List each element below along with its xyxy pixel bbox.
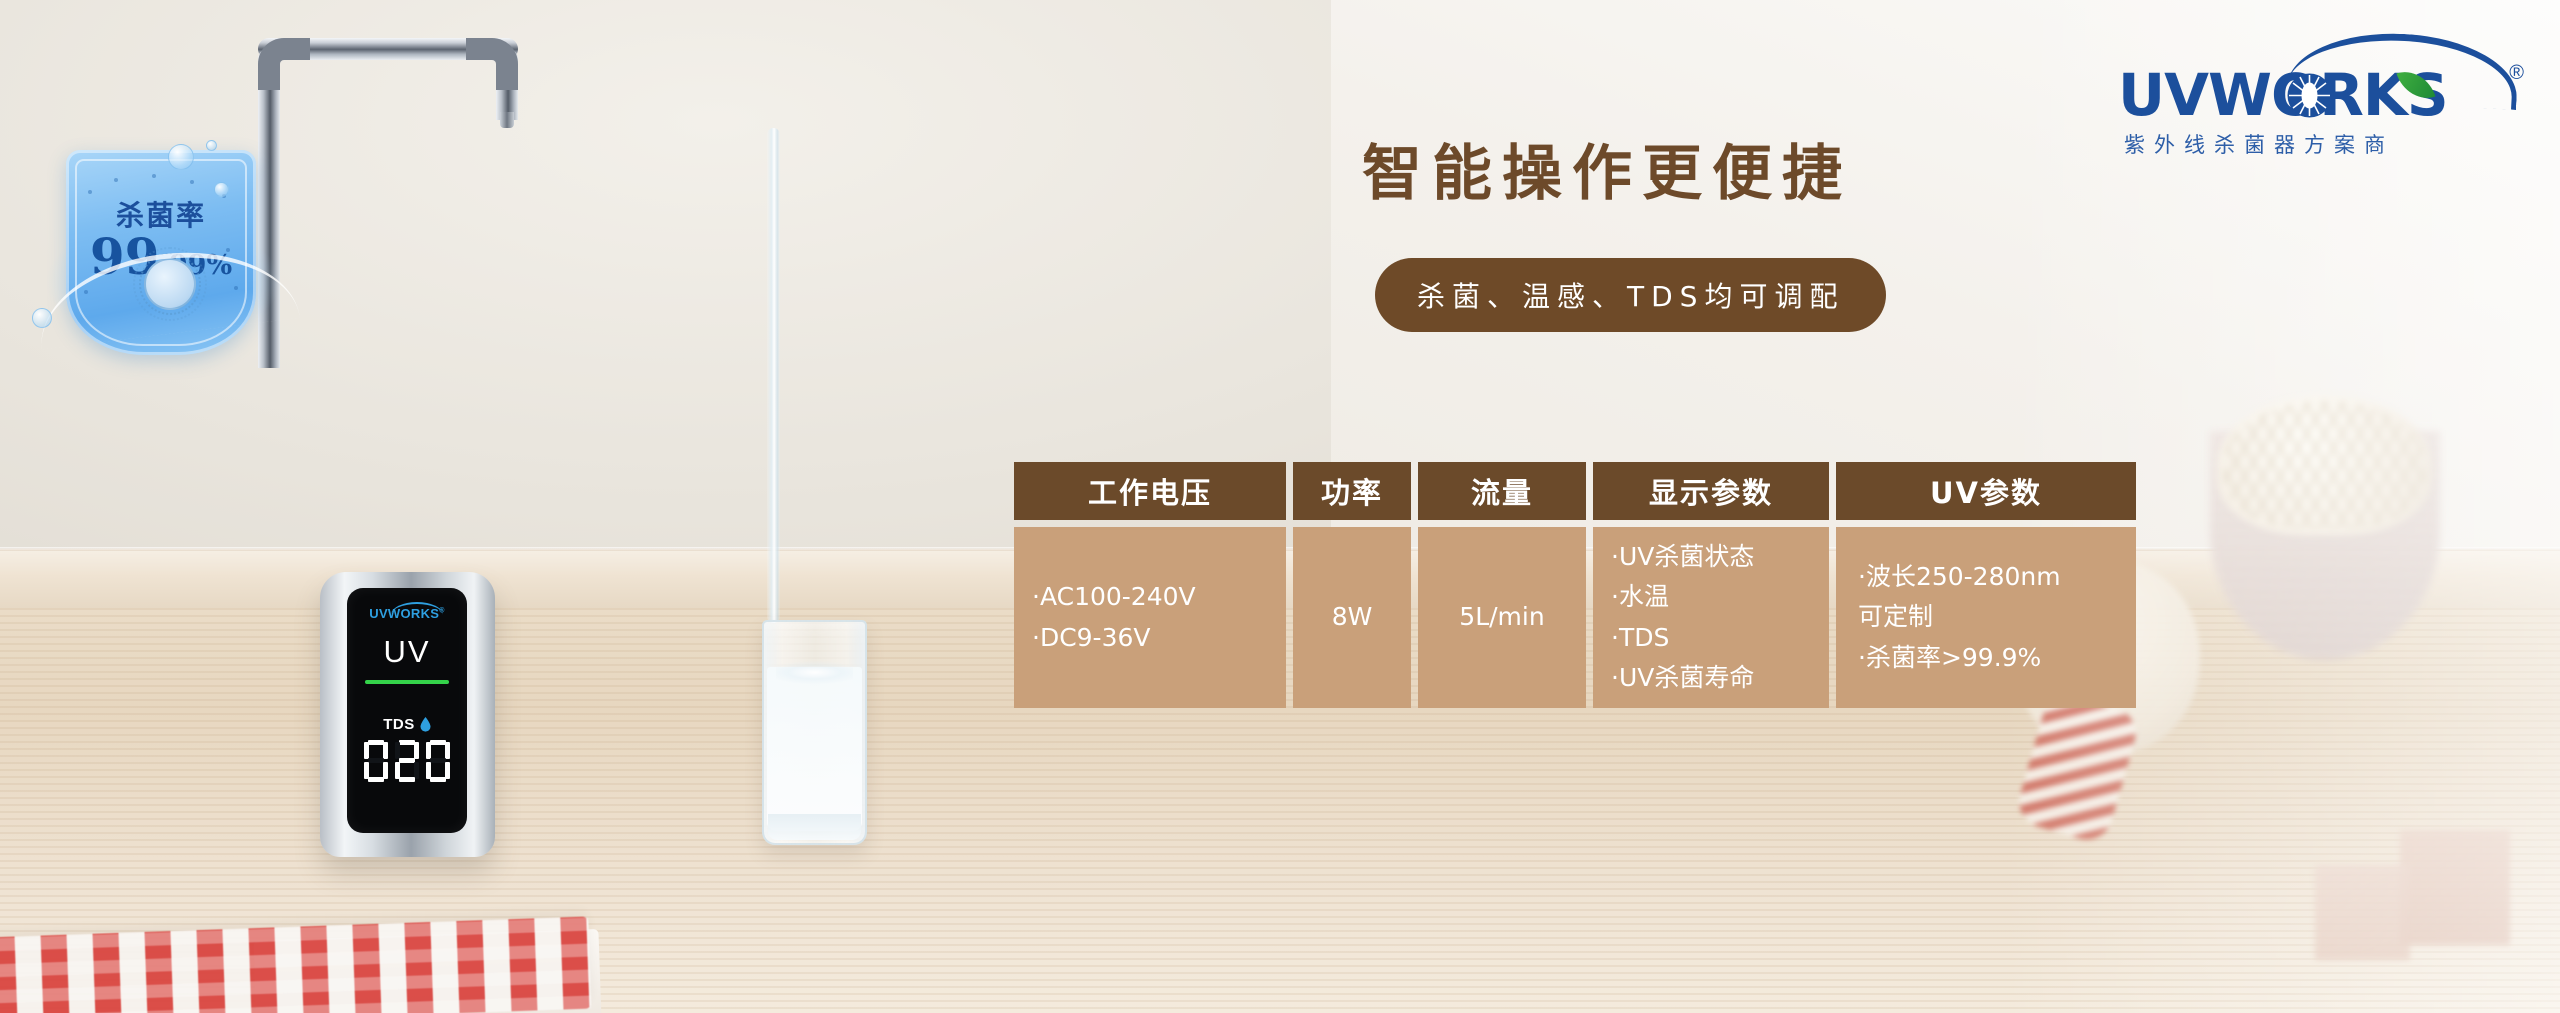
spec-header-flow: 流量 <box>1418 462 1586 520</box>
spec-header-uv: UV参数 <box>1836 462 2136 520</box>
glass-base <box>768 814 861 840</box>
yarn-ball-prop <box>2217 395 2432 535</box>
water-drop-icon <box>420 717 431 732</box>
spec-line: ·DC9-36V <box>1032 618 1286 659</box>
spec-body-uv: ·波长250-280nm 可定制 ·杀菌率>99.9% <box>1836 527 2136 708</box>
logo-tagline: 紫外线杀菌器方案商 <box>2124 129 2394 159</box>
spec-header-power: 功率 <box>1293 462 1411 520</box>
faucet-corner-left <box>258 38 310 90</box>
device-mode-label: UV <box>347 634 467 670</box>
device-tds-row: TDS <box>347 716 467 733</box>
water-glass <box>762 620 867 845</box>
water-splash <box>776 652 853 686</box>
seg-digit-2 <box>395 740 419 782</box>
spec-column-display: 显示参数 ·UV杀菌状态 ·水温 ·TDS ·UV杀菌寿命 <box>1593 462 1829 708</box>
spec-line: ·杀菌率>99.9% <box>1858 638 2136 679</box>
spec-body-flow: 5L/min <box>1418 527 1586 708</box>
spec-line: ·水温 <box>1611 577 1829 618</box>
bubble-icon-3 <box>32 308 52 328</box>
spec-column-uv: UV参数 ·波长250-280nm 可定制 ·杀菌率>99.9% <box>1836 462 2136 708</box>
wood-block-prop-a <box>2400 830 2510 945</box>
spec-line: ·波长250-280nm <box>1858 557 2136 598</box>
bubble-icon-1 <box>168 144 194 170</box>
spec-line: 可定制 <box>1858 597 2136 638</box>
sterilization-rate-badge: 杀菌率 99.99% <box>28 136 298 366</box>
spec-line: ·UV杀菌状态 <box>1611 537 1829 578</box>
specification-table: 工作电压 ·AC100-240V ·DC9-36V 功率 8W 流量 5L/mi… <box>1014 462 2136 708</box>
glass-water-fill <box>767 667 862 831</box>
logo-registered-mark: ® <box>2509 62 2524 85</box>
brand-logo: UVWORKS ® 紫外线杀菌器方案商 <box>2118 28 2518 158</box>
device-logo-registered-mark: ® <box>439 608 444 615</box>
uv-sunburst-icon <box>2286 72 2333 119</box>
bubble-icon-4 <box>206 140 217 151</box>
faucet-corner-right <box>466 38 518 90</box>
uv-sterilizer-device: UVWORKS® UV TDS <box>320 572 495 857</box>
spec-body-voltage: ·AC100-240V ·DC9-36V <box>1014 527 1286 708</box>
spec-body-display: ·UV杀菌状态 ·水温 ·TDS ·UV杀菌寿命 <box>1593 527 1829 708</box>
wood-block-prop-b <box>2315 865 2410 960</box>
spec-line: ·UV杀菌寿命 <box>1611 658 1829 699</box>
spec-body-power: 8W <box>1293 527 1411 708</box>
seg-digit-1 <box>364 740 388 782</box>
page-title: 智能操作更便捷 <box>1362 125 1852 212</box>
spec-line: 5L/min <box>1459 597 1544 638</box>
device-tds-label: TDS <box>383 716 415 733</box>
feature-pill: 杀菌、温感、TDS均可调配 <box>1375 258 1886 332</box>
device-logo: UVWORKS® <box>347 606 467 621</box>
spec-header-display: 显示参数 <box>1593 462 1829 520</box>
spec-line: ·TDS <box>1611 618 1829 659</box>
spec-line: 8W <box>1332 597 1373 638</box>
bubble-icon-2 <box>214 182 229 197</box>
water-stream <box>767 128 780 623</box>
device-tds-value <box>347 740 467 782</box>
device-status-bar <box>365 680 449 684</box>
spec-column-flow: 流量 5L/min <box>1418 462 1586 708</box>
spec-header-voltage: 工作电压 <box>1014 462 1286 520</box>
spec-line: ·AC100-240V <box>1032 577 1286 618</box>
faucet-spout <box>500 112 514 128</box>
device-display-screen: UVWORKS® UV TDS <box>347 588 467 833</box>
device-logo-text: UVWORKS <box>369 606 439 621</box>
spec-column-voltage: 工作电压 ·AC100-240V ·DC9-36V <box>1014 462 1286 708</box>
spec-column-power: 功率 8W <box>1293 462 1411 708</box>
seg-digit-3 <box>426 740 450 782</box>
